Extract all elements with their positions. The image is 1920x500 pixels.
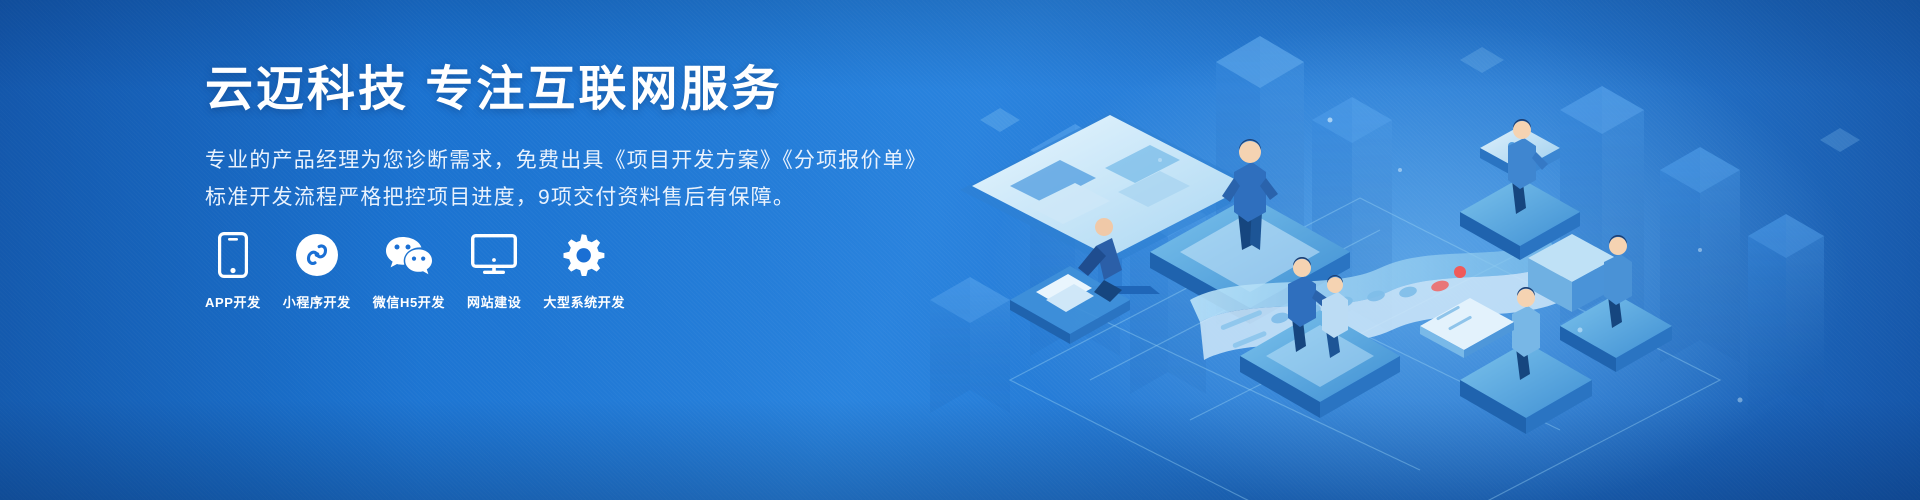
mini-program-icon	[295, 232, 339, 278]
hero-banner: 云迈科技 专注互联网服务 专业的产品经理为您诊断需求，免费出具《项目开发方案》《…	[0, 0, 1920, 500]
gear-icon	[562, 232, 606, 278]
data-ribbon	[1190, 240, 1564, 360]
service-item-large-system[interactable]: 大型系统开发	[543, 232, 625, 311]
banner-content: 云迈科技 专注互联网服务 专业的产品经理为您诊断需求，免费出具《项目开发方案》《…	[205, 62, 1105, 217]
page-title: 云迈科技 专注互联网服务	[205, 62, 1105, 117]
platform-lower-right	[1460, 342, 1592, 434]
platform-right-top	[1460, 178, 1580, 260]
platform-right-lower	[1560, 294, 1672, 372]
person-lower-right	[1512, 287, 1540, 380]
center-platform	[1150, 196, 1350, 324]
banner-subtitle: 专业的产品经理为您诊断需求，免费出具《项目开发方案》《分项报价单》 标准开发流程…	[205, 143, 1105, 217]
person-lower-left-a	[1288, 257, 1330, 352]
subtitle-line-1: 专业的产品经理为您诊断需求，免费出具《项目开发方案》《分项报价单》	[205, 143, 1105, 180]
service-label: 网站建设	[467, 292, 521, 311]
person-standing-center	[1222, 139, 1278, 250]
service-item-website[interactable]: 网站建设	[467, 232, 521, 311]
smartphone-icon	[218, 232, 248, 278]
service-label: 大型系统开发	[543, 292, 625, 311]
floating-particles	[1158, 118, 1743, 403]
wechat-icon	[384, 232, 434, 278]
service-item-mini-program[interactable]: 小程序开发	[283, 232, 351, 311]
person-seated-left	[1010, 218, 1130, 344]
person-right-top	[1508, 119, 1548, 214]
server-block-right	[1528, 234, 1616, 312]
floating-chat-card	[1480, 126, 1560, 180]
service-label: 微信H5开发	[373, 292, 445, 311]
service-list: APP开发 小程序开发	[205, 232, 647, 311]
service-label: APP开发	[205, 292, 261, 311]
service-label: 小程序开发	[283, 292, 351, 311]
person-right-lower	[1604, 235, 1632, 328]
ground-grid	[1010, 198, 1720, 500]
info-panel-small	[1420, 298, 1514, 358]
platform-lower-left	[1240, 310, 1400, 418]
service-item-app[interactable]: APP开发	[205, 232, 261, 311]
person-lower-left-b	[1322, 275, 1348, 358]
subtitle-line-2: 标准开发流程严格把控项目进度，9项交付资料售后有保障。	[205, 180, 1105, 217]
monitor-icon	[471, 232, 517, 278]
service-item-wechat-h5[interactable]: 微信H5开发	[373, 232, 445, 311]
